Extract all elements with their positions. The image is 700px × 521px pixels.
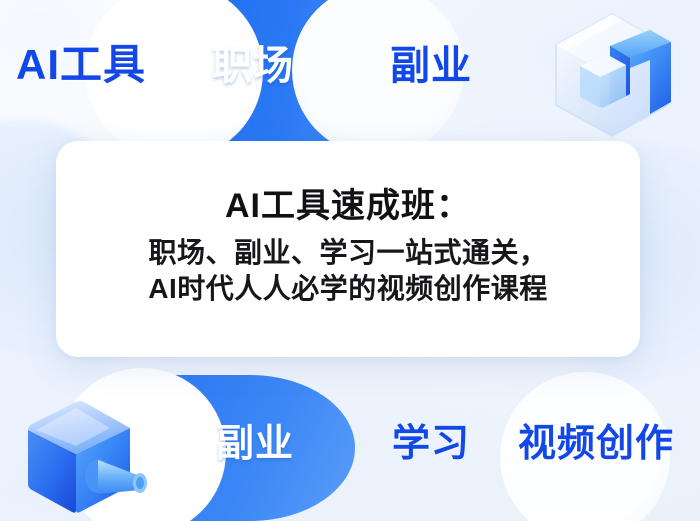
- promo-poster: AI工具 职场 副业 副业 学习 视频创作: [0, 0, 700, 521]
- tag-video-creation: 视频创作: [518, 425, 674, 463]
- blue-cube-plug-icon: [14, 390, 156, 518]
- tag-side-hustle-top: 副业: [390, 46, 472, 86]
- card-subtitle-line-2: AI时代人人必学的视频创作课程: [148, 271, 548, 307]
- tag-study: 学习: [392, 425, 470, 463]
- tag-side-hustle-bottom: 副业: [216, 425, 294, 463]
- tag-ai-tools: AI工具: [16, 44, 146, 86]
- tag-workplace: 职场: [212, 46, 294, 86]
- card-subtitle-line-1: 职场、副业、学习一站式通关，: [148, 235, 547, 271]
- headline-card: AI工具速成班： 职场、副业、学习一站式通关， AI时代人人必学的视频创作课程: [56, 141, 640, 357]
- hexagon-glass-cube-icon: [538, 8, 686, 142]
- card-title: AI工具速成班：: [225, 187, 471, 225]
